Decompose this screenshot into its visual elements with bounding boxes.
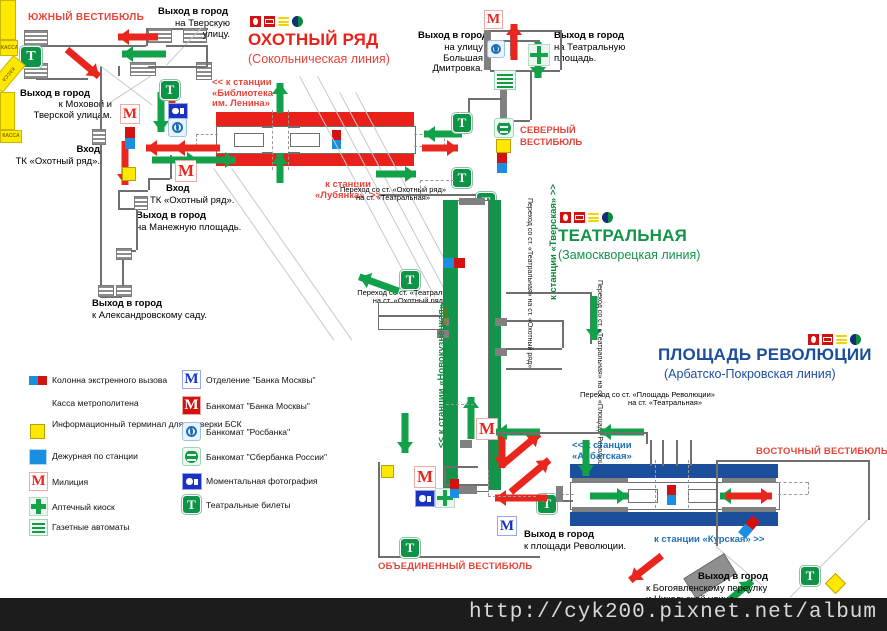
first-aid-icon bbox=[808, 334, 819, 345]
platform-track-south-okhotny bbox=[216, 152, 414, 166]
theatre-tickets-icon[interactable]: T bbox=[800, 566, 820, 586]
flow-arrow-green bbox=[397, 413, 413, 453]
station-pictograms-teatralnaya bbox=[560, 212, 613, 223]
exit-detail-mokhovaya: к Моховой и Тверской улицам. bbox=[6, 100, 112, 121]
corridor-line bbox=[136, 208, 138, 250]
flow-arrow-green bbox=[272, 153, 288, 183]
theatre-tickets-icon[interactable]: T bbox=[452, 113, 472, 133]
transfer-label-tverskaya-side: Переход со ст. «Театральная» на ст. «Охо… bbox=[525, 198, 534, 368]
police-icon[interactable]: M bbox=[175, 160, 197, 182]
corridor-line bbox=[560, 30, 562, 70]
station-title-teatralnaya: ТЕАТРАЛЬНАЯ bbox=[558, 226, 687, 245]
access-dash bbox=[808, 482, 809, 494]
police-icon[interactable]: M bbox=[414, 466, 436, 488]
platform-access bbox=[460, 440, 472, 448]
corridor-line bbox=[868, 460, 870, 520]
corridor-line bbox=[496, 432, 646, 434]
exit-title-alexandrovsky: Выход в город bbox=[92, 299, 162, 310]
exit-detail-manezhnaya: на Манежную площадь. bbox=[136, 223, 241, 234]
escalator-well bbox=[655, 460, 656, 508]
exit-detail-teatralnaya-pl: на Театральную площадь. bbox=[554, 43, 625, 64]
first-aid-icon bbox=[250, 16, 261, 27]
vestibule-label-east: ВОСТОЧНЫЙ ВЕСТИБЮЛЬ bbox=[756, 447, 887, 458]
station-pictograms-okhotny bbox=[250, 16, 303, 27]
platform-pillar bbox=[290, 133, 320, 147]
corridor-line bbox=[118, 190, 120, 208]
platform-pillar bbox=[234, 133, 264, 147]
platform-edge bbox=[572, 478, 628, 483]
corridor-line bbox=[148, 66, 206, 68]
station-title-okhotny: ОХОТНЫЙ РЯД bbox=[248, 30, 378, 49]
exit-title-bogoyavlensky: Выход в город bbox=[698, 572, 768, 583]
legend-label-newspaper: Газетные автоматы bbox=[52, 522, 130, 533]
exit-title-manezhnaya: Выход в город bbox=[136, 211, 206, 222]
station-title-revolyutsii: ПЛОЩАДЬ РЕВОЛЮЦИИ bbox=[658, 345, 872, 364]
escalator-icon bbox=[588, 212, 599, 223]
info-terminal-icon[interactable] bbox=[122, 167, 136, 181]
corridor-line bbox=[118, 190, 148, 192]
flow-arrow-green bbox=[272, 83, 288, 113]
info-icon bbox=[292, 16, 303, 27]
direction-kurskaya: к станции «Курская» >> bbox=[654, 535, 764, 546]
corridor-line bbox=[690, 440, 692, 466]
atm-icon bbox=[822, 334, 833, 345]
station-line-revolyutsii: (Арбатско-Покровская линия) bbox=[664, 367, 836, 381]
flow-arrow-green bbox=[578, 440, 594, 476]
theatre-tickets-icon[interactable]: T bbox=[160, 80, 180, 100]
vestibule-label-south: ЮЖНЫЙ ВЕСТИБЮЛЬ bbox=[28, 12, 144, 23]
metro-station-map: ЮЖНЫЙ ВЕСТИБЮЛЬ T Выход в город на Тверс… bbox=[0, 0, 887, 631]
platform-hall-teatralnaya bbox=[457, 200, 489, 492]
stair-icon bbox=[130, 62, 156, 76]
ticket-office-icon[interactable]: КАССА bbox=[0, 40, 18, 56]
platform-track-north-okhotny bbox=[216, 112, 414, 126]
station-line-okhotny: (Сокольническая линия) bbox=[248, 52, 390, 66]
corridor-line bbox=[676, 440, 678, 466]
legend-icon-pharmacy-kiosk-icon bbox=[29, 497, 48, 516]
access-dash bbox=[420, 180, 454, 181]
access-dash bbox=[488, 470, 489, 496]
corridor-line bbox=[166, 45, 208, 47]
watermark-url: http://cyk200.pixnet.net/album bbox=[469, 601, 877, 624]
legend-icon-station-attendant-icon bbox=[29, 449, 47, 465]
first-aid-icon bbox=[560, 212, 571, 223]
station-line-teatralnaya: (Замоскворецкая линия) bbox=[558, 248, 700, 262]
atm-icon bbox=[264, 16, 275, 27]
access-dash bbox=[488, 496, 536, 497]
legend-label-pharmacy: Аптечный киоск bbox=[52, 502, 115, 513]
platform-pillar bbox=[688, 489, 718, 503]
pharmacy-kiosk-icon[interactable] bbox=[528, 44, 550, 66]
corridor-line bbox=[100, 66, 102, 296]
legend-label-photo: Моментальная фотография bbox=[206, 476, 318, 487]
stair-icon bbox=[24, 30, 48, 46]
legend-label-bank-moscow-atm: Банкомат "Банка Москвы" bbox=[206, 401, 310, 412]
info-icon bbox=[850, 334, 861, 345]
exit-title-tverskaya: Выход в город bbox=[158, 7, 228, 18]
corridor-line bbox=[506, 368, 562, 370]
legend-label-kassa: Касса метрополитена bbox=[52, 398, 139, 409]
vestibule-label-north: СЕВЕРНЫЙ ВЕСТИБЮЛЬ bbox=[520, 125, 582, 150]
station-pictograms-revolyutsii bbox=[808, 334, 861, 345]
platform-track-north-revolyutsii bbox=[570, 464, 778, 478]
emergency-call-column-icon[interactable] bbox=[497, 153, 507, 173]
direction-tverskaya: к станции «Тверская» >> bbox=[548, 184, 559, 300]
theatre-tickets-icon[interactable]: T bbox=[452, 168, 472, 188]
flow-arrow-red bbox=[506, 24, 522, 60]
exit-title-teatralnaya-pl: Выход в город bbox=[554, 31, 624, 42]
flow-arrow-red bbox=[726, 488, 772, 504]
entrance-title-tk2: Вход bbox=[166, 184, 190, 195]
transfer-passage bbox=[378, 316, 442, 330]
platform-edge bbox=[572, 507, 628, 512]
emergency-call-column-icon[interactable] bbox=[443, 258, 465, 268]
corridor-line bbox=[646, 432, 648, 444]
corridor-line bbox=[262, 126, 272, 128]
bank-of-moscow-branch-icon[interactable]: M bbox=[497, 516, 517, 536]
flow-arrow-red bbox=[62, 43, 104, 82]
access-dash bbox=[196, 134, 218, 135]
corridor-line bbox=[288, 126, 300, 128]
legend-label-sberbank: Банкомат "Сбербанка России" bbox=[206, 452, 327, 463]
emergency-call-column-icon[interactable] bbox=[450, 479, 459, 498]
flow-arrow-red bbox=[495, 490, 547, 506]
legend-icon-instant-photo-icon bbox=[182, 473, 202, 490]
exit-title-revolution-pl: Выход в город bbox=[524, 530, 594, 541]
corridor-line bbox=[444, 466, 478, 468]
emergency-call-column-icon[interactable] bbox=[667, 485, 676, 505]
platform-edge bbox=[722, 507, 776, 512]
platform-edge bbox=[722, 478, 776, 483]
police-icon[interactable]: M bbox=[120, 104, 140, 124]
legend-icon-ticket-office-icon: КАССА bbox=[0, 130, 22, 143]
flow-arrow-green bbox=[376, 166, 416, 182]
legend-icon-rosbank-atm-icon bbox=[182, 422, 201, 441]
escalator-icon bbox=[836, 334, 847, 345]
platform-access bbox=[459, 486, 477, 494]
platform-end bbox=[459, 198, 485, 205]
corridor-line bbox=[444, 466, 446, 484]
info-terminal-icon[interactable] bbox=[825, 573, 846, 594]
corridor-line bbox=[506, 320, 562, 322]
corridor-line bbox=[562, 320, 564, 348]
vestibule-label-united: ОБЪЕДИНЕННЫЙ ВЕСТИБЮЛЬ bbox=[378, 562, 532, 573]
theatre-tickets-icon[interactable]: T bbox=[400, 538, 420, 558]
corridor-line bbox=[506, 348, 562, 350]
emergency-call-column-icon[interactable] bbox=[125, 127, 135, 149]
legend-label-rosbank: Банкомат "Росбанка" bbox=[206, 427, 290, 438]
flow-arrow-red bbox=[625, 549, 666, 586]
exit-detail-dmitrovka: на улицу Большая Дмитровка. bbox=[398, 43, 483, 75]
corridor-line bbox=[378, 462, 380, 556]
info-terminal-icon[interactable] bbox=[496, 139, 511, 153]
legend-icon-police-icon: M bbox=[29, 472, 48, 491]
info-terminal-icon[interactable] bbox=[381, 465, 394, 478]
corridor-line bbox=[468, 98, 470, 114]
stair-icon bbox=[116, 248, 132, 260]
info-icon bbox=[602, 212, 613, 223]
legend-icon-emergency-call-column-icon bbox=[29, 376, 47, 385]
escalator-well bbox=[688, 460, 689, 508]
rosbank-atm-icon[interactable] bbox=[168, 118, 187, 137]
transfer-passage bbox=[378, 302, 442, 316]
flow-arrow-red bbox=[118, 29, 158, 45]
metro-logo-icon: M bbox=[484, 10, 503, 29]
legend-icon-info-terminal-icon bbox=[30, 424, 45, 439]
corridor-line bbox=[716, 460, 868, 462]
newspaper-machine-icon[interactable] bbox=[494, 70, 516, 90]
flow-arrow-green bbox=[590, 488, 628, 504]
legend-icon-bank-of-moscow-branch-icon: M bbox=[182, 370, 201, 389]
entrance-detail-tk1: ТК «Охотный ряд». bbox=[6, 157, 100, 168]
transfer-label-revolyutsii-teatralnaya: Переход со ст. «Площадь Революции» на ст… bbox=[580, 391, 702, 408]
legend-label-bank-moscow-branch: Отделение "Банка Москвы" bbox=[206, 375, 316, 386]
access-dash bbox=[446, 404, 474, 405]
corridor-line bbox=[490, 30, 560, 32]
stair-icon bbox=[98, 285, 114, 297]
corridor-line bbox=[468, 98, 502, 100]
flow-arrow-green bbox=[196, 152, 236, 168]
stair-icon bbox=[134, 196, 148, 210]
corridor-line bbox=[563, 500, 573, 502]
exit-title-dmitrovka: Выход в город bbox=[418, 31, 488, 42]
legend-icon-bank-of-moscow-atm-icon: M bbox=[182, 396, 201, 415]
entrance-detail-tk2: ТК «Охотный ряд». bbox=[150, 196, 234, 207]
direction-biblioteka: << к станции «Библиотека им. Ленина» bbox=[212, 78, 273, 110]
atm-icon bbox=[574, 212, 585, 223]
corridor-line bbox=[716, 460, 718, 546]
instant-photo-icon[interactable] bbox=[168, 103, 188, 119]
corridor-line bbox=[662, 440, 664, 466]
rosbank-atm-icon[interactable] bbox=[487, 40, 505, 58]
escalator-well bbox=[288, 110, 289, 170]
corridor-line bbox=[262, 152, 272, 154]
legend-icon-newspaper-machine-icon bbox=[29, 519, 48, 536]
access-dash bbox=[778, 494, 808, 495]
watermark-bar: http://cyk200.pixnet.net/album bbox=[0, 598, 887, 631]
corridor-line bbox=[206, 45, 208, 67]
exit-detail-alexandrovsky: к Александровскому саду. bbox=[92, 311, 207, 322]
platform-pillar bbox=[628, 489, 658, 503]
stair-icon bbox=[116, 285, 132, 297]
corridor-line bbox=[650, 440, 652, 466]
corridor-line bbox=[148, 178, 170, 180]
escalator-icon bbox=[278, 16, 289, 27]
ticket-office-icon[interactable]: КАССА bbox=[0, 0, 16, 40]
corridor-line bbox=[118, 66, 120, 76]
direction-novokuznetskaya: << к станции «Новокузнецкая» bbox=[436, 304, 447, 448]
sberbank-atm-icon[interactable] bbox=[494, 118, 514, 138]
theatre-tickets-icon[interactable]: T bbox=[400, 270, 420, 290]
stair-icon bbox=[196, 62, 212, 80]
legend-icon-theatre-tickets-icon: T bbox=[182, 495, 201, 514]
legend-label-call-column: Колонна экстренного вызова bbox=[52, 375, 167, 386]
exit-detail-revolution-pl: к площади Революции. bbox=[524, 542, 626, 553]
corridor-line bbox=[530, 70, 532, 120]
corridor-line bbox=[288, 152, 300, 154]
access-dash bbox=[778, 482, 808, 483]
flow-arrow-red bbox=[422, 140, 458, 156]
wall bbox=[500, 90, 507, 120]
corridor-line bbox=[148, 178, 150, 190]
legend-icon-sberbank-atm-icon bbox=[182, 447, 201, 466]
instant-photo-icon[interactable] bbox=[415, 490, 435, 507]
stair-icon bbox=[92, 129, 106, 145]
wall bbox=[556, 486, 563, 502]
entrance-title-tk1: Вход bbox=[30, 145, 100, 156]
legend-label-duty: Дежурная по станции bbox=[52, 451, 138, 462]
flow-arrow-green bbox=[122, 46, 166, 62]
legend-label-police: Милиция bbox=[52, 477, 88, 488]
legend-label-theatre-tickets: Театральные билеты bbox=[206, 500, 291, 511]
